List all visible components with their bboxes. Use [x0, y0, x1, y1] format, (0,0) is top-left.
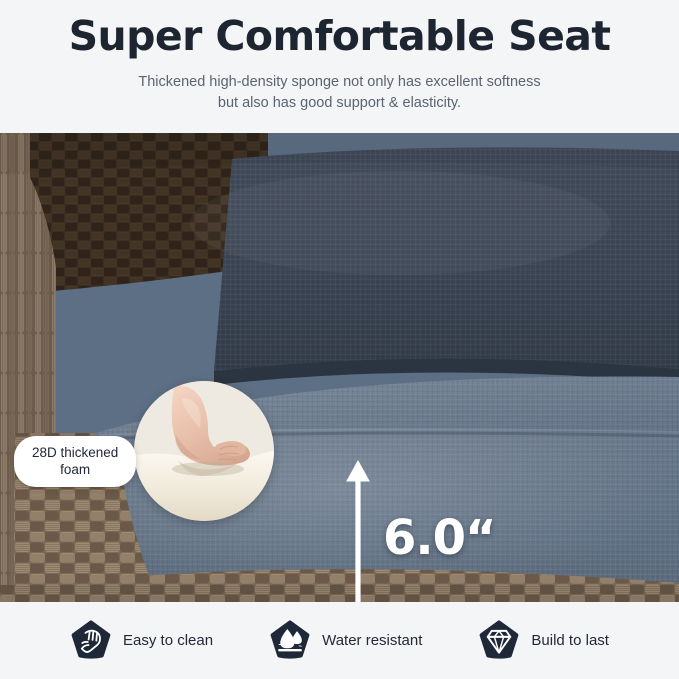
cleaning-cloth-icon [70, 620, 112, 662]
foam-callout-badge: 28D thickened foam [14, 436, 136, 487]
seat-thickness-label: 6.0“ [383, 514, 496, 562]
product-photo: 28D thickened foam 6.0“ [0, 133, 679, 602]
feature-label-build-to-last: Build to last [531, 632, 609, 649]
product-feature-page: Super Comfortable Seat Thickened high-de… [0, 0, 679, 679]
feature-bar: Easy to clean Water resistant [0, 602, 679, 679]
feature-item-water-resistant: Water resistant [269, 620, 422, 662]
hand-pressing-foam-photo [134, 381, 274, 521]
subtitle-line-1: Thickened high-density sponge not only h… [138, 72, 540, 93]
feature-label-water-resistant: Water resistant [322, 632, 422, 649]
double-arrow-vertical-icon [338, 459, 378, 602]
water-drop-icon [269, 620, 311, 662]
page-title: Super Comfortable Seat [69, 14, 611, 60]
foam-callout-label: 28D thickened foam [32, 444, 118, 479]
page-subtitle: Thickened high-density sponge not only h… [138, 72, 540, 114]
feature-label-easy-to-clean: Easy to clean [123, 632, 213, 649]
foam-demo-inset [134, 381, 274, 521]
diamond-icon [478, 620, 520, 662]
subtitle-line-2: but also has good support & elasticity. [138, 93, 540, 114]
feature-item-build-to-last: Build to last [478, 620, 609, 662]
header-section: Super Comfortable Seat Thickened high-de… [0, 0, 679, 133]
feature-item-easy-to-clean: Easy to clean [70, 620, 213, 662]
